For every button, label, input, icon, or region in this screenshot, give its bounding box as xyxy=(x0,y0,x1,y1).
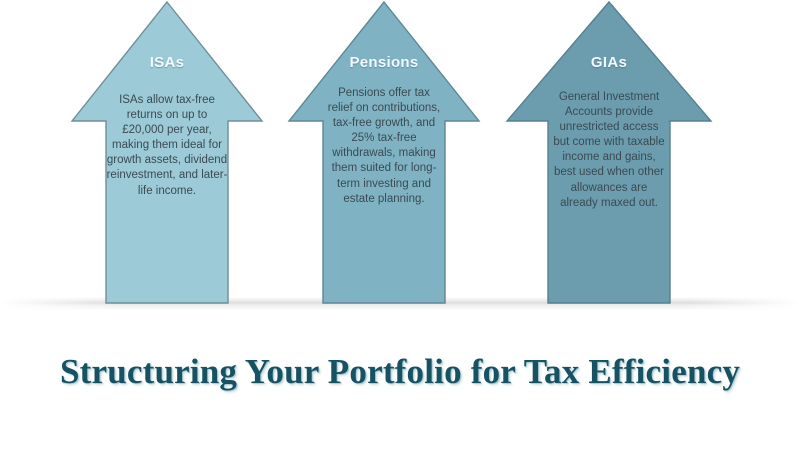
arrow-body-gias: General Investment Accounts provide unre… xyxy=(551,90,667,211)
arrow-heading-pensions: Pensions xyxy=(349,55,418,72)
slide-title: Structuring Your Portfolio for Tax Effic… xyxy=(0,352,800,392)
arrow-body-pensions: Pensions offer tax relief on contributio… xyxy=(325,86,443,207)
arrow-gias[interactable]: GIAs General Investment Accounts provide… xyxy=(505,0,713,305)
arrow-body-isas: ISAs allow tax-free returns on up to £20… xyxy=(105,93,229,199)
arrow-pensions[interactable]: Pensions Pensions offer tax relief on co… xyxy=(287,0,481,305)
arrow-heading-isas: ISAs xyxy=(150,55,185,72)
arrow-isas[interactable]: ISAs ISAs allow tax-free returns on up t… xyxy=(70,0,264,305)
slide-canvas: ISAs ISAs allow tax-free returns on up t… xyxy=(0,0,800,450)
arrow-heading-gias: GIAs xyxy=(591,55,627,72)
